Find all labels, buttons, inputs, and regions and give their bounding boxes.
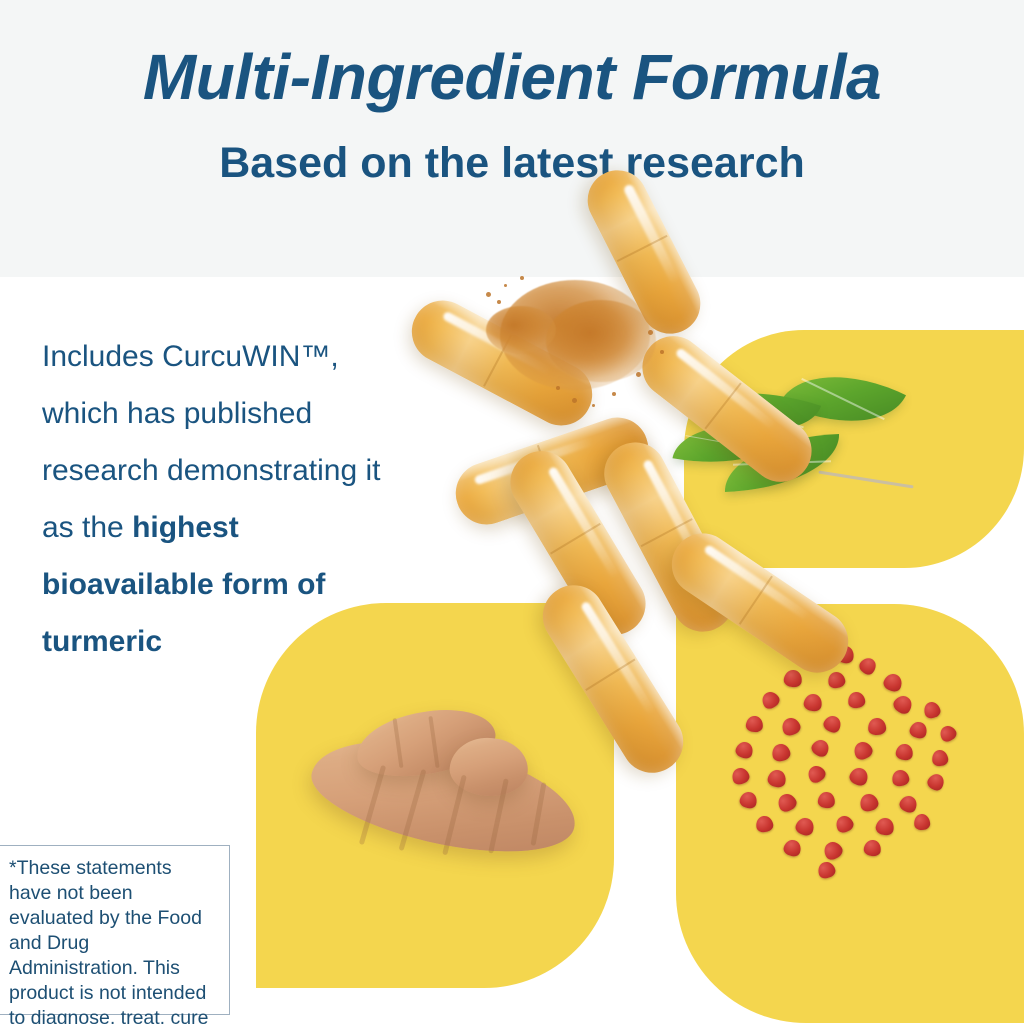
body-copy: Includes CurcuWIN™, which has published … bbox=[42, 328, 417, 670]
product-infographic: Multi-Ingredient Formula Based on the la… bbox=[0, 0, 1024, 1024]
fda-disclaimer: *These statements have not been evaluate… bbox=[0, 845, 230, 1015]
fda-disclaimer-text: *These statements have not been evaluate… bbox=[9, 857, 212, 1024]
